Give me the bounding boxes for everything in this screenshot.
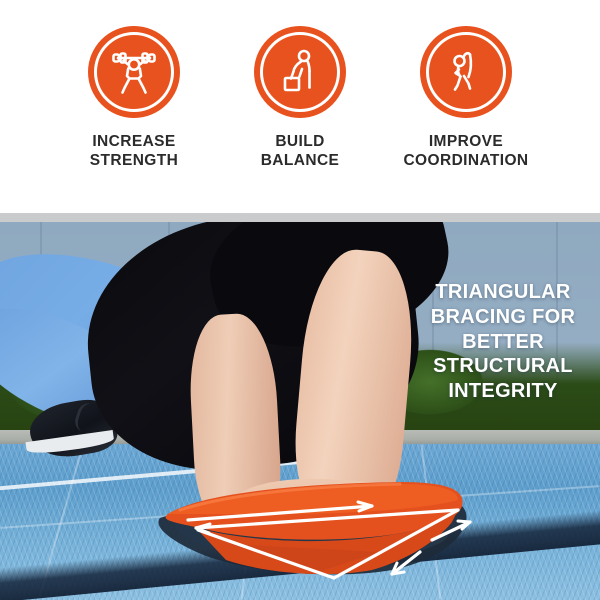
headline-line-1: TRIANGULAR xyxy=(418,280,588,305)
benefit-label: INCREASE STRENGTH xyxy=(90,133,178,171)
benefit-label-line2: STRENGTH xyxy=(90,152,178,171)
headline-line-2: BRACING FOR xyxy=(418,305,588,330)
benefit-label-line1: INCREASE xyxy=(92,133,175,150)
headline-line-4: STRUCTURAL xyxy=(418,354,588,379)
benefit-increase-strength: INCREASE STRENGTH xyxy=(51,0,217,171)
benefit-improve-coordination: IMPROVE COORDINATION xyxy=(383,0,549,171)
benefit-label-line1: BUILD xyxy=(275,133,324,150)
stretching-person-icon xyxy=(420,26,512,118)
benefits-banner: INCREASE STRENGTH xyxy=(0,0,600,213)
product-feature-image: INCREASE STRENGTH xyxy=(0,0,600,600)
headline-line-3: BETTER xyxy=(418,330,588,355)
benefit-label-line1: IMPROVE xyxy=(429,133,503,150)
benefit-build-balance: BUILD BALANCE xyxy=(217,0,383,171)
product-photo: TRIANGULAR BRACING FOR BETTER STRUCTURAL… xyxy=(0,222,600,600)
headline-line-5: INTEGRITY xyxy=(418,379,588,404)
benefit-label-line2: BALANCE xyxy=(261,152,340,171)
benefit-label: BUILD BALANCE xyxy=(261,133,340,171)
overlay-headline: TRIANGULAR BRACING FOR BETTER STRUCTURAL… xyxy=(418,280,588,404)
weightlifter-icon xyxy=(88,26,180,118)
benefit-label: IMPROVE COORDINATION xyxy=(403,133,528,171)
lifting-box-icon xyxy=(254,26,346,118)
benefit-label-line2: COORDINATION xyxy=(403,152,528,171)
banner-divider xyxy=(0,213,600,222)
